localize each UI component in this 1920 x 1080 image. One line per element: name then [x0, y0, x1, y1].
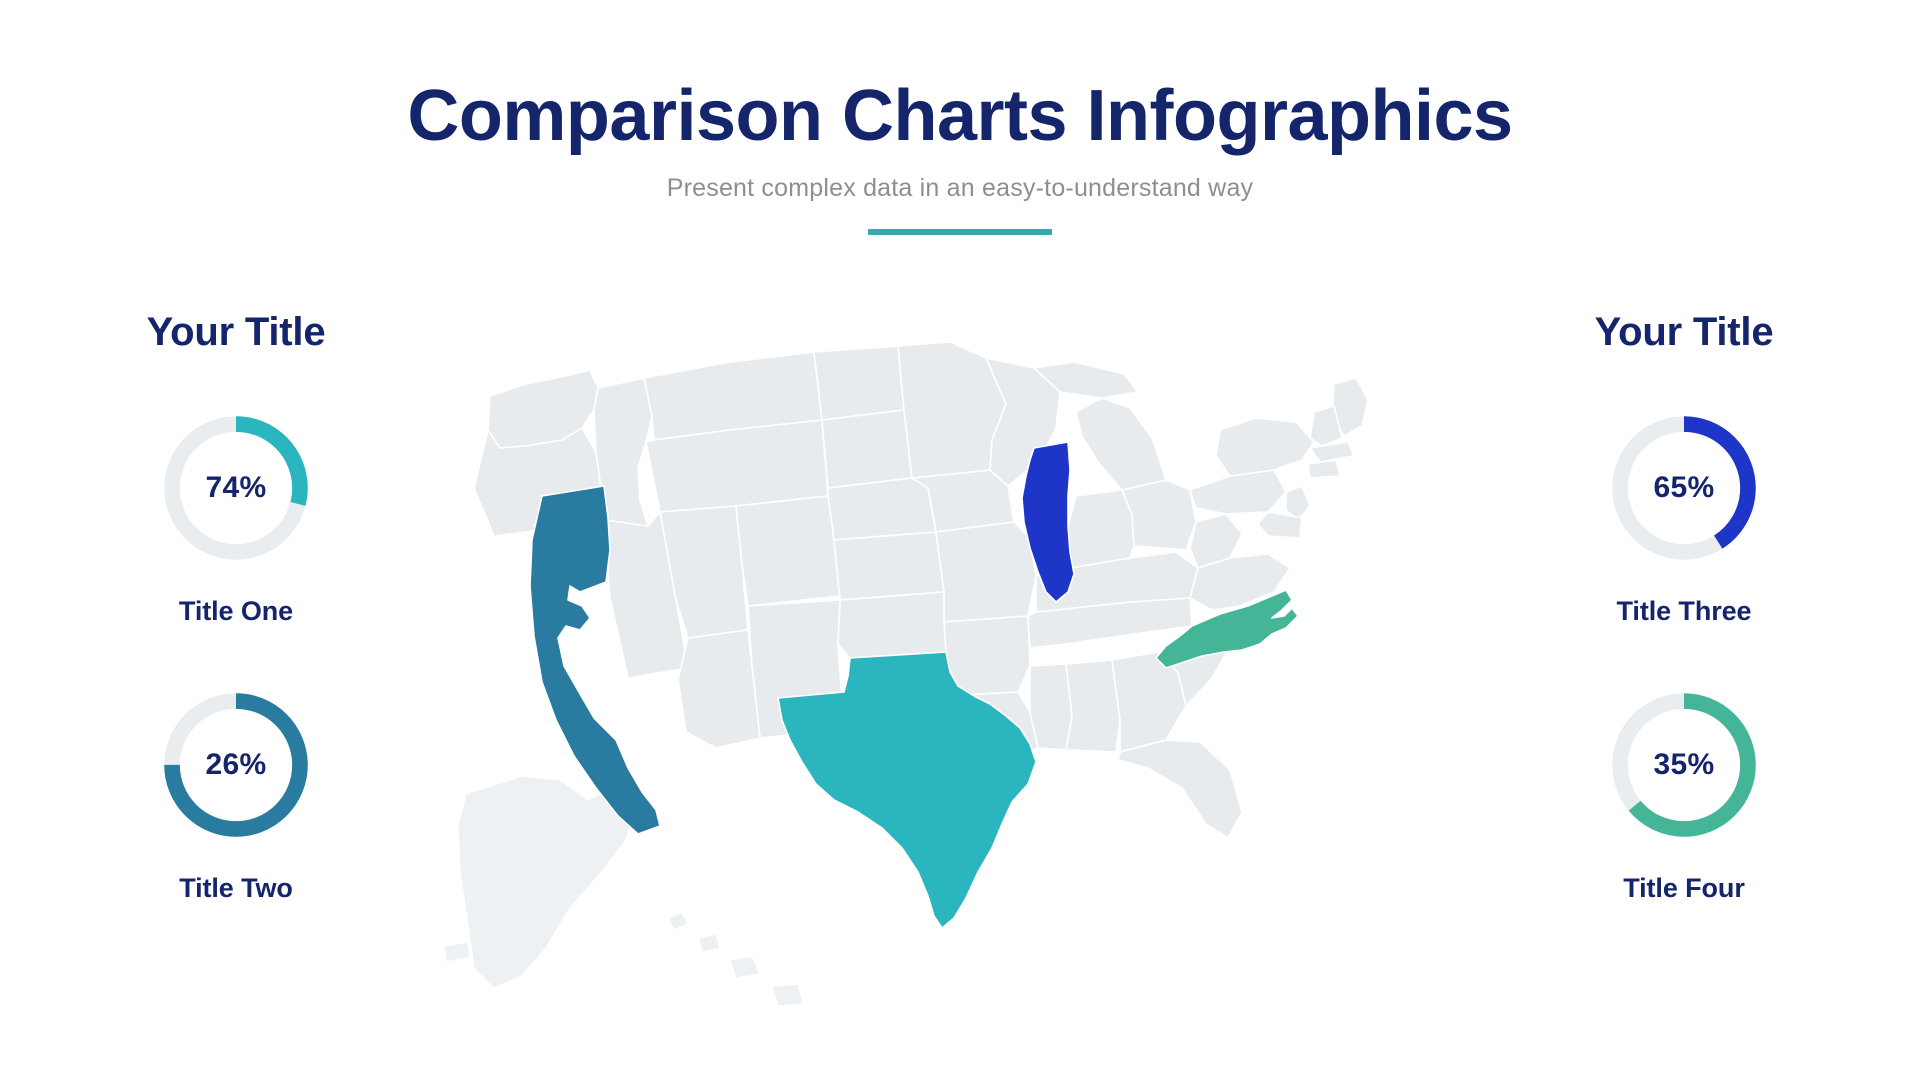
state-michigan[interactable] — [1076, 398, 1166, 490]
title-divider — [868, 229, 1052, 235]
donut-chart-title-four[interactable]: 35% — [1606, 687, 1762, 843]
state-south-dakota[interactable] — [822, 410, 912, 488]
state-mississippi[interactable] — [1030, 664, 1072, 750]
stat-label-title-one: Title One — [76, 596, 396, 627]
left-column-heading: Your Title — [76, 312, 396, 352]
state-missouri[interactable] — [936, 522, 1036, 622]
state-kansas[interactable] — [834, 532, 944, 600]
donut-chart-title-one[interactable]: 74% — [158, 410, 314, 566]
state-alabama[interactable] — [1066, 660, 1120, 752]
state-oklahoma[interactable] — [838, 592, 946, 658]
state-massachusetts[interactable] — [1310, 442, 1354, 462]
state-hawaii-3[interactable] — [730, 956, 760, 978]
stat-label-title-three: Title Three — [1524, 596, 1844, 627]
united-states-map — [430, 300, 1490, 1040]
donut-value-title-three: 65% — [1606, 410, 1762, 566]
state-florida[interactable] — [1118, 740, 1242, 838]
header: Comparison Charts Infographics Present c… — [0, 78, 1920, 235]
stat-title-one: 74% Title One — [76, 410, 396, 627]
map-svg — [430, 300, 1490, 1040]
state-nebraska[interactable] — [828, 478, 936, 540]
state-arizona[interactable] — [678, 630, 760, 748]
stat-label-title-two: Title Two — [76, 873, 396, 904]
state-hawaii-2[interactable] — [698, 934, 720, 952]
page-subtitle: Present complex data in an easy-to-under… — [0, 174, 1920, 203]
stat-title-three: 65% Title Three — [1524, 410, 1844, 627]
state-north-dakota[interactable] — [814, 346, 904, 420]
state-connecticut-rhode-island[interactable] — [1308, 460, 1340, 478]
left-column: Your Title 74% Title One 26% Title Two — [76, 312, 396, 904]
page-title: Comparison Charts Infographics — [0, 78, 1920, 156]
state-pennsylvania[interactable] — [1190, 470, 1286, 514]
state-indiana[interactable] — [1068, 490, 1134, 568]
right-column: Your Title 65% Title Three 35% Title Fou… — [1524, 312, 1844, 904]
donut-value-title-one: 74% — [158, 410, 314, 566]
stat-title-two: 26% Title Two — [76, 687, 396, 904]
donut-value-title-four: 35% — [1606, 687, 1762, 843]
stat-title-four: 35% Title Four — [1524, 687, 1844, 904]
state-alaska[interactable] — [458, 776, 636, 988]
state-alaska-islands[interactable] — [444, 942, 470, 962]
donut-chart-title-three[interactable]: 65% — [1606, 410, 1762, 566]
state-hawaii-4[interactable] — [772, 984, 804, 1006]
state-ohio[interactable] — [1122, 480, 1196, 550]
slide-root: Comparison Charts Infographics Present c… — [0, 0, 1920, 1080]
donut-value-title-two: 26% — [158, 687, 314, 843]
right-column-heading: Your Title — [1524, 312, 1844, 352]
state-new-jersey[interactable] — [1286, 486, 1310, 520]
stat-label-title-four: Title Four — [1524, 873, 1844, 904]
state-colorado[interactable] — [736, 496, 840, 606]
state-hawaii[interactable] — [668, 912, 688, 930]
donut-chart-title-two[interactable]: 26% — [158, 687, 314, 843]
state-new-york[interactable] — [1216, 418, 1314, 476]
